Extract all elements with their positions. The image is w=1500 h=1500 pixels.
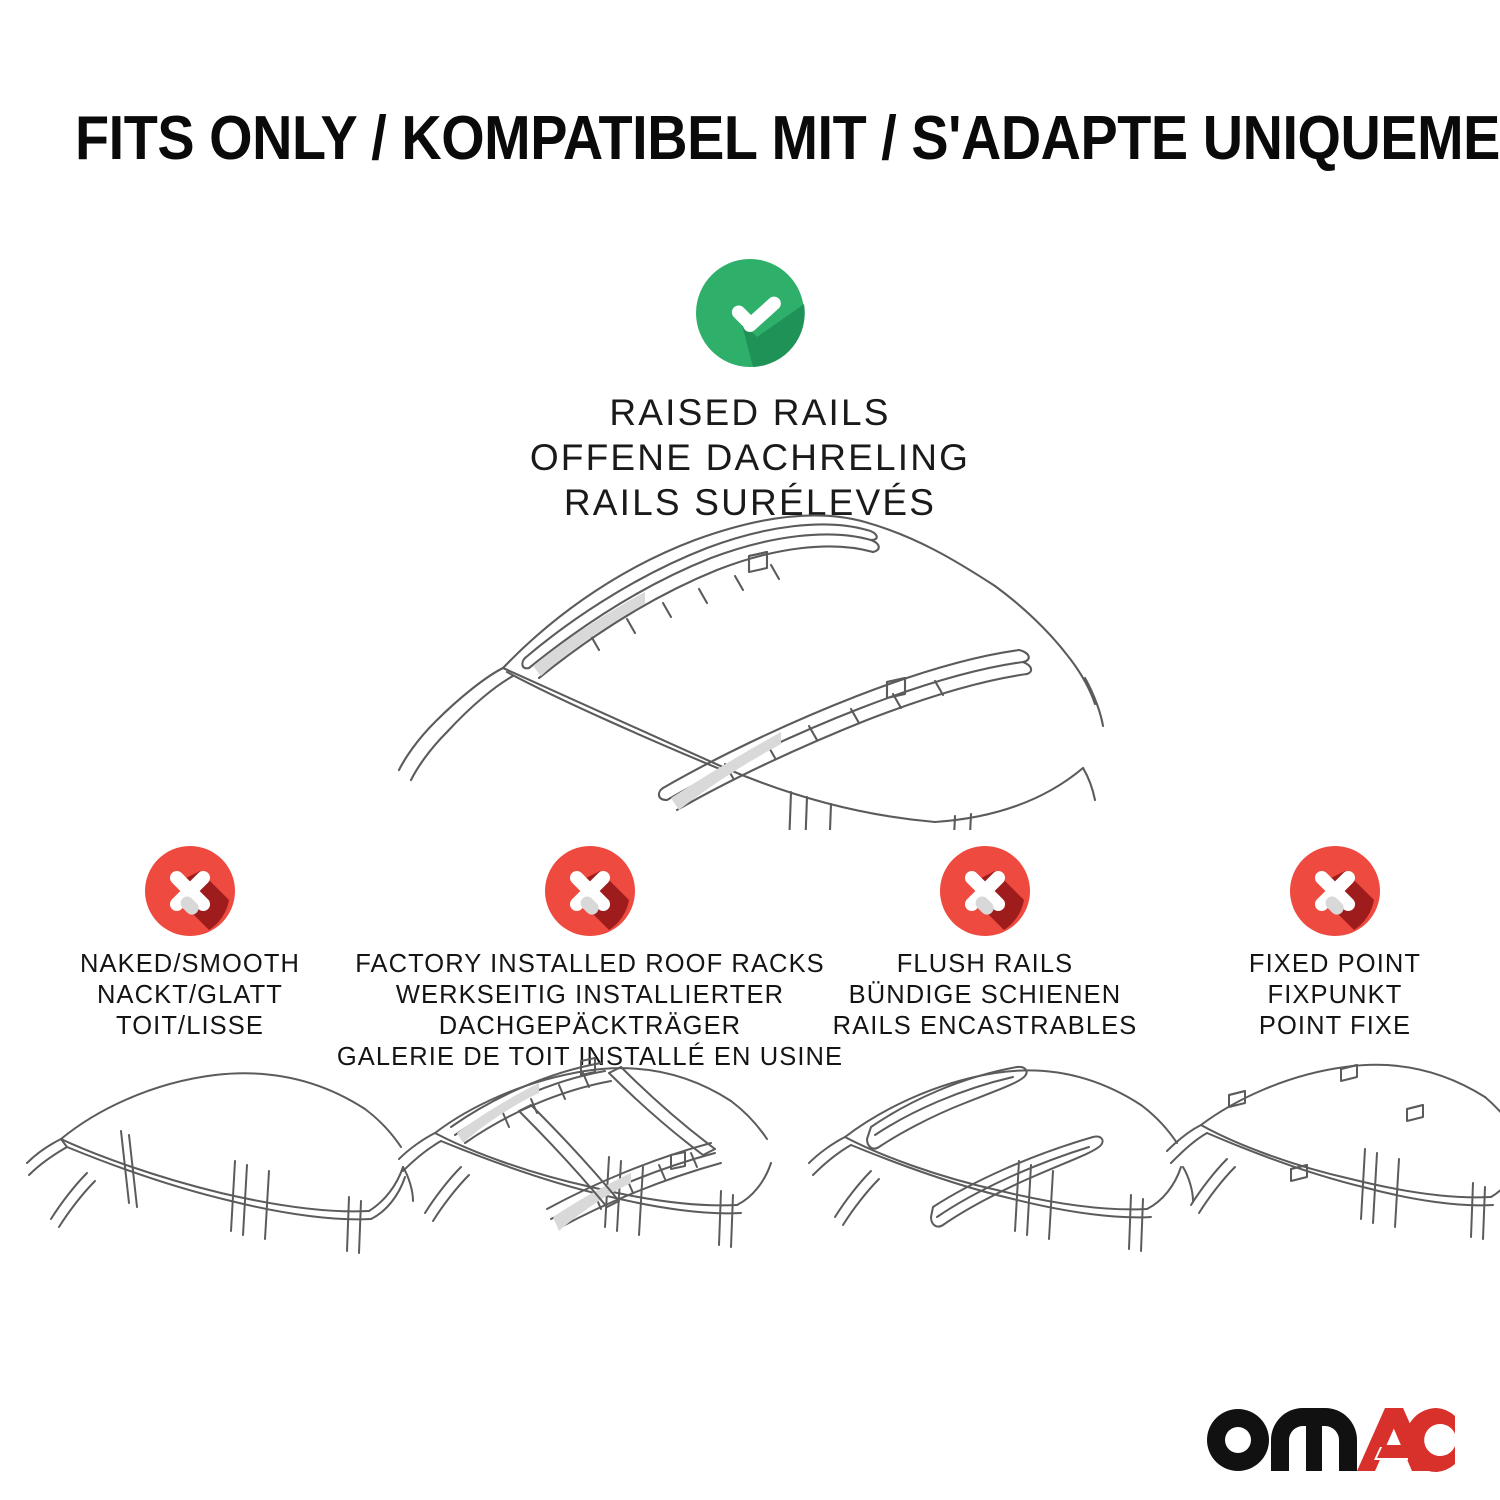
incompatible-item-flush-rails: FLUSH RAILS BÜNDIGE SCHIENEN RAILS ENCAS… (800, 845, 1170, 1042)
incompatible-label-en: FACTORY INSTALLED ROOF RACKS (337, 949, 843, 980)
incompatible-label-fr: TOIT/LISSE (80, 1011, 300, 1042)
incompatible-label-fr: POINT FIXE (1249, 1011, 1421, 1042)
incompatible-label-de: BÜNDIGE SCHIENEN (833, 980, 1138, 1011)
compatible-section: RAISED RAILS OFFENE DACHRELING RAILS SUR… (0, 258, 1500, 525)
incompatible-label-de-2: DACHGEPÄCKTRÄGER (337, 1011, 843, 1042)
incompatible-label-de-1: WERKSEITIG INSTALLIERTER (337, 980, 843, 1011)
incompatible-section: NAKED/SMOOTH NACKT/GLATT TOIT/LISSE (0, 845, 1500, 1073)
incompatible-label-en: NAKED/SMOOTH (80, 949, 300, 980)
incompatible-item-naked-smooth: NAKED/SMOOTH NACKT/GLATT TOIT/LISSE (0, 845, 380, 1042)
incompatible-label-en: FLUSH RAILS (833, 949, 1138, 980)
incompatible-labels: FLUSH RAILS BÜNDIGE SCHIENEN RAILS ENCAS… (833, 949, 1138, 1042)
incompatible-item-fixed-point: FIXED POINT FIXPUNKT POINT FIXE (1170, 845, 1500, 1042)
incompatible-labels: NAKED/SMOOTH NACKT/GLATT TOIT/LISSE (80, 949, 300, 1042)
compatible-label-de: OFFENE DACHRELING (530, 435, 970, 480)
incompatible-label-de: FIXPUNKT (1249, 980, 1421, 1011)
incompatible-item-factory-racks: FACTORY INSTALLED ROOF RACKS WERKSEITIG … (380, 845, 800, 1073)
red-cross-circle-icon (939, 845, 1031, 937)
compatible-label-en: RAISED RAILS (530, 390, 970, 435)
red-cross-circle-icon (544, 845, 636, 937)
incompatible-label-de: NACKT/GLATT (80, 980, 300, 1011)
car-roof-fixed-point-illustration (1165, 1055, 1500, 1315)
car-roof-naked-smooth-illustration (25, 1055, 415, 1315)
car-roof-flush-rails-illustration (805, 1055, 1200, 1315)
page-title: FITS ONLY / KOMPATIBEL MIT / S'ADAPTE UN… (75, 104, 1425, 174)
fitment-info-graphic: FITS ONLY / KOMPATIBEL MIT / S'ADAPTE UN… (0, 0, 1500, 1500)
red-cross-circle-icon (1289, 845, 1381, 937)
red-cross-circle-icon (144, 845, 236, 937)
omac-logo (1205, 1400, 1455, 1472)
incompatible-label-en: FIXED POINT (1249, 949, 1421, 980)
incompatible-labels: FIXED POINT FIXPUNKT POINT FIXE (1249, 949, 1421, 1042)
incompatible-label-fr: RAILS ENCASTRABLES (833, 1011, 1138, 1042)
incompatible-illustrations-row (0, 1055, 1500, 1315)
car-roof-raised-rails-illustration (395, 500, 1105, 830)
car-roof-factory-racks-illustration (395, 1055, 795, 1315)
green-check-circle-icon (695, 258, 805, 368)
